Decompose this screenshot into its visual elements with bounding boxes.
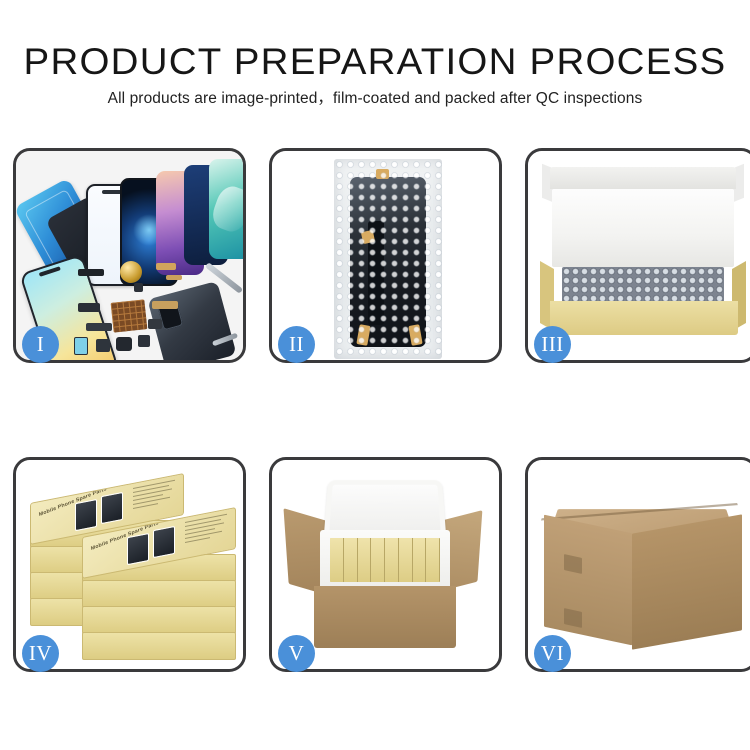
bubble-wrapped-contents-icon [562,267,724,305]
stacked-box [82,606,236,634]
carton-right-face-icon [632,514,742,649]
teal-phone-icon [209,159,243,259]
chip-grid-icon [111,299,148,332]
part-icon [148,319,162,329]
part-icon [74,337,88,355]
box-front-panel-icon [550,301,738,335]
bubble-wrap-bag-icon [334,159,442,359]
wrapped-screen-icon [350,177,426,347]
part-icon [78,303,100,312]
step-badge-4: IV [22,635,59,672]
part-icon [78,269,104,276]
part-icon [96,339,110,352]
part-icon [152,301,178,309]
part-icon [134,283,143,292]
packed-boxes-icon [330,538,440,582]
part-icon [138,335,150,347]
foam-sheet-icon [552,189,734,267]
product-preparation-process-infographic: PRODUCT PREPARATION PROCESS All products… [0,0,750,750]
box-stack: Mobile Phone Spare Parts Mobile Phone Sp… [26,476,242,662]
carton-front-icon [314,586,456,648]
stacked-box [82,632,236,660]
box-spec-lines [133,480,175,514]
part-icon [166,275,182,280]
tape-tab-icon [361,230,375,244]
step-badge-6: VI [534,635,571,672]
box-window-icon [127,533,149,565]
step-badge-2: II [278,326,315,363]
part-icon [86,323,112,331]
box-window-icon [101,492,123,524]
box-spec-lines [185,514,227,548]
part-icon [116,337,132,351]
step-badge-3: III [534,326,571,363]
step-badge-5: V [278,635,315,672]
part-icon [156,263,176,270]
step-badge-1: I [22,326,59,363]
carton-left-face-icon [544,515,632,646]
steps-grid: Mobile Phone Spare Parts Mobile Phone Sp… [0,0,750,750]
speaker-module-icon [120,261,142,283]
box-window-icon [75,499,97,531]
box-window-icon [153,526,175,558]
stacked-box [82,580,236,608]
box-lid-icon [550,167,736,189]
tape-tab-icon [376,169,389,179]
